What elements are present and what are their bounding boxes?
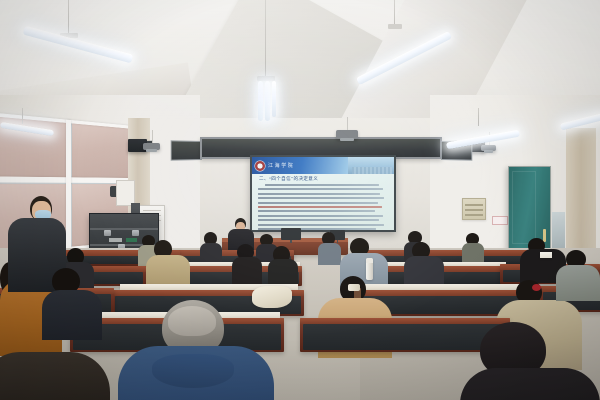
hair-tie [532,284,541,291]
slide-header-photo [348,157,394,174]
pendant-light-center [258,81,263,121]
projection-screen[interactable]: 江海学院 二、“四个自信”的决定意义 [250,155,396,232]
light-rod [22,108,23,124]
slide-body [252,183,394,230]
presenter-monitor[interactable] [281,228,301,240]
curtain-right [566,128,596,256]
grey-hair [168,306,216,336]
light-cap [388,24,402,29]
wall-notice-board [462,198,486,220]
light-rod [394,0,395,26]
ceiling-projector-secondary [143,143,160,150]
university-logo-icon [255,161,265,171]
slide-title: 二、“四个自信”的决定意义 [259,176,394,182]
light-rod [68,0,69,34]
ceiling-projector-right [481,145,496,151]
wall-plaque-right [492,216,508,225]
pendant-light-center-b [265,81,270,121]
light-rod [265,0,266,78]
thermos-bottle[interactable] [366,258,373,280]
slide-header: 江海学院 [252,157,394,174]
door-handle[interactable] [543,229,546,242]
light-rod [478,108,479,126]
classroom-scene: 江海学院 二、“四个自信”的决定意义 [0,0,600,400]
chalkboard-left-wing [171,140,202,160]
notebook[interactable] [540,252,552,258]
slide-header-logo-text: 江海学院 [268,162,294,169]
slide-content: 江海学院 二、“四个自信”的决定意义 [252,157,394,230]
ceiling-projector [336,130,358,139]
bench-row [300,318,510,352]
hair-ornament [348,284,360,291]
pendant-light-center-c [272,81,276,117]
white-cloth [252,286,292,308]
hood [152,354,234,388]
